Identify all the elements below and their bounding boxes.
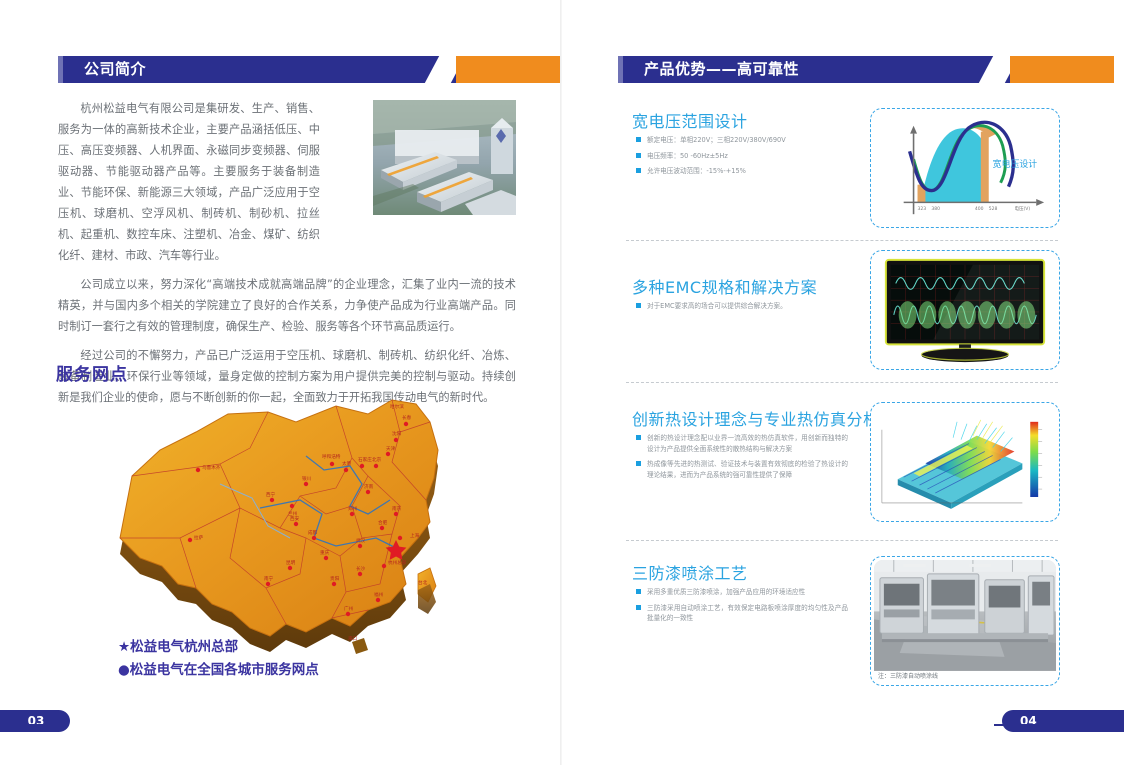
emc-oscilloscope-waveform-display (870, 250, 1060, 370)
bullet-item: 允许电压波动范围：-15%-+15% (636, 166, 848, 177)
svg-text:西安: 西安 (290, 515, 300, 522)
svg-text:400: 400 (975, 206, 984, 212)
svg-text:海口: 海口 (348, 635, 358, 642)
factory-aerial-photo (373, 100, 516, 215)
svg-text:郑州: 郑州 (348, 505, 358, 512)
page-title: 产品优势——高可靠性 (644, 56, 799, 83)
page-title: 公司简介 (84, 56, 146, 83)
feature-divider (626, 540, 1058, 542)
svg-text:银川: 银川 (302, 475, 312, 482)
bullet-item: 对于EMC要求高的场合可以提供综合解决方案。 (636, 301, 848, 312)
legend-item-branches: ●松益电气在全国各城市服务网点 (118, 659, 319, 682)
left-page: 公司简介 (0, 0, 562, 765)
feature-bullet-list: 对于EMC要求高的场合可以提供综合解决方案。 (636, 301, 848, 317)
intro-paragraph-2: 公司成立以来，努力深化“高端技术成就高端品牌”的企业理念，汇集了业内一流的技术精… (58, 274, 516, 337)
svg-text:南京: 南京 (392, 505, 402, 512)
feature-bullet-list: 采用多重优质三防漆喷涂，加强产品应用的环境适应性 三防漆采用自动喷涂工艺，有效保… (636, 587, 848, 629)
section-header-product-advantage: 产品优势——高可靠性 (618, 56, 1066, 83)
service-network-title: 服务网点 (56, 360, 128, 385)
image-caption: 注：三防漆自动喷涂线 (878, 671, 938, 680)
feature-title: 创新热设计理念与专业热仿真分析 (632, 406, 880, 430)
feature-title: 宽电压范围设计 (632, 108, 748, 132)
svg-text:台北: 台北 (418, 579, 428, 586)
svg-text:电压(V): 电压(V) (1014, 205, 1030, 212)
svg-text:乌鲁木齐: 乌鲁木齐 (202, 464, 221, 471)
feature-title: 三防漆喷涂工艺 (632, 560, 748, 584)
svg-text:上海: 上海 (410, 532, 420, 539)
legend-dot-icon: ● (118, 662, 130, 678)
svg-text:天津: 天津 (386, 445, 396, 452)
bullet-item: 热成像等先进的热测试、验证技术与装置有效彻底的检验了热设计的理论结果，进而为产品… (636, 459, 848, 480)
legend-label-hq: 松益电气杭州总部 (130, 639, 238, 655)
thermal-simulation-analysis-render (870, 402, 1060, 522)
wide-voltage-range-chart: 323380 400528 电压(V) 宽电压设计 (870, 108, 1060, 228)
svg-text:北京: 北京 (372, 456, 382, 463)
svg-text:广州: 广州 (344, 605, 354, 612)
bullet-item: 采用多重优质三防漆喷涂，加强产品应用的环境适应性 (636, 587, 848, 598)
page-number-right: 04 (1002, 710, 1124, 732)
legend-item-hq: ★松益电气杭州总部 (118, 636, 319, 659)
bullet-item: 创新的热设计理念配以业界一流高效的热仿真软件，用创新而独特的设计为产品提供全面系… (636, 433, 848, 454)
svg-text:528: 528 (989, 206, 998, 212)
svg-text:南宁: 南宁 (264, 575, 274, 582)
svg-text:沈阳: 沈阳 (392, 430, 402, 437)
section-header-company-intro: 公司简介 (58, 56, 510, 83)
svg-text:长春: 长春 (402, 414, 412, 421)
svg-text:福州: 福州 (374, 591, 384, 598)
feature-bullet-list: 创新的热设计理念配以业界一流高效的热仿真软件，用创新而独特的设计为产品提供全面系… (636, 433, 848, 485)
svg-text:济南: 济南 (364, 483, 374, 490)
svg-text:成都: 成都 (308, 529, 318, 536)
svg-text:长沙: 长沙 (356, 565, 366, 572)
svg-text:昆明: 昆明 (286, 560, 296, 566)
header-bar-orange (456, 56, 568, 83)
svg-text:宽电压设计: 宽电压设计 (993, 158, 1038, 170)
conformal-coating-production-line-photo: 注：三防漆自动喷涂线 (870, 556, 1060, 686)
svg-text:杭州总部: 杭州总部 (388, 559, 407, 566)
page-number-rule-right (994, 724, 1124, 726)
svg-text:哈尔滨: 哈尔滨 (390, 403, 404, 410)
svg-text:西宁: 西宁 (266, 491, 276, 498)
bullet-item: 三防漆采用自动喷涂工艺，有效保定电路板喷涂厚度的均匀性及产品批量化的一致性 (636, 603, 848, 624)
svg-text:武汉: 武汉 (356, 537, 366, 544)
feature-divider (626, 240, 1058, 242)
svg-text:380: 380 (931, 206, 940, 212)
feature-title: 多种EMC规格和解决方案 (632, 274, 817, 298)
svg-text:兰州: 兰州 (288, 510, 298, 517)
svg-text:呼和浩特: 呼和浩特 (322, 453, 341, 460)
page-number-rule-left (0, 724, 66, 726)
svg-text:拉萨: 拉萨 (194, 534, 204, 541)
svg-text:重庆: 重庆 (320, 549, 330, 556)
legend-star-icon: ★ (118, 639, 130, 655)
svg-text:合肥: 合肥 (378, 519, 388, 526)
page-number-left: 03 (0, 710, 70, 732)
legend-label-branches: 松益电气在全国各城市服务网点 (130, 662, 319, 678)
svg-text:323: 323 (918, 206, 927, 212)
feature-bullet-list: 额定电压：单相220V；三相220V/380V/690V 电压频率：50 -60… (636, 135, 848, 182)
map-legend: ★松益电气杭州总部 ●松益电气在全国各城市服务网点 (118, 636, 319, 682)
bullet-item: 额定电压：单相220V；三相220V/380V/690V (636, 135, 848, 146)
svg-text:太原: 太原 (342, 460, 352, 467)
feature-divider (626, 382, 1058, 384)
svg-text:石家庄: 石家庄 (358, 456, 372, 463)
intro-paragraph-1: 杭州松益电气有限公司是集研发、生产、销售、服务为一体的高新技术企业，主要产品涵括… (58, 98, 320, 266)
svg-text:贵阳: 贵阳 (330, 575, 340, 582)
header-bar-orange (1010, 56, 1114, 83)
bullet-item: 电压频率：50 -60Hz±5Hz (636, 151, 848, 162)
